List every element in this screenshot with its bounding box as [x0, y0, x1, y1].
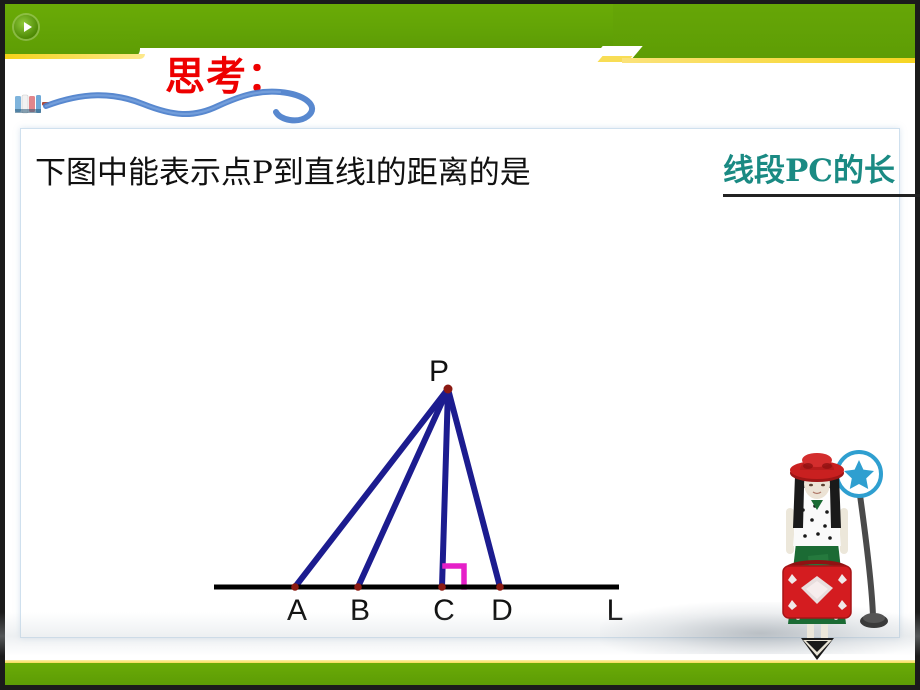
header-yellow-accent-right [622, 58, 915, 63]
label-D: D [491, 594, 513, 627]
label-L: L [607, 594, 624, 627]
header-bar-right-extension [613, 4, 915, 62]
header-yellow-accent-left [5, 54, 145, 59]
answer-block: 线段PC的长 [723, 145, 895, 190]
answer-text: 线段PC的长 [723, 153, 895, 189]
point-A-dot [291, 583, 299, 591]
label-B: B [350, 594, 370, 627]
segment-PC [442, 389, 448, 587]
slide-frame-left [0, 0, 5, 690]
question-text: 下图中能表示点P到直线l的距离的是 [35, 147, 531, 192]
slide-frame-bottom [0, 685, 920, 690]
question-line: 下图中能表示点P到直线l的距离的是 线段PC的长 [35, 147, 897, 193]
segment-PD [448, 389, 500, 587]
mascot-girl-with-suitcase [770, 448, 920, 676]
swirl-decoration [8, 84, 408, 126]
slide-canvas: 思考： 下图中能表示点P到直线l的距离的是 线段PC的长 [0, 0, 920, 690]
label-P: P [429, 355, 449, 388]
label-C: C [433, 594, 455, 627]
point-C-dot [438, 583, 446, 591]
point-B-dot [354, 583, 362, 591]
geometry-figure: P A B C D L [21, 229, 899, 629]
answer-underline [723, 194, 920, 197]
point-D-dot [496, 583, 504, 591]
play-icon[interactable] [14, 15, 38, 39]
content-panel: 下图中能表示点P到直线l的距离的是 线段PC的长 P [20, 128, 900, 638]
label-A: A [287, 594, 307, 627]
play-triangle-icon [24, 22, 32, 32]
footer-bar [5, 663, 915, 685]
right-angle-marker-icon [445, 566, 464, 587]
